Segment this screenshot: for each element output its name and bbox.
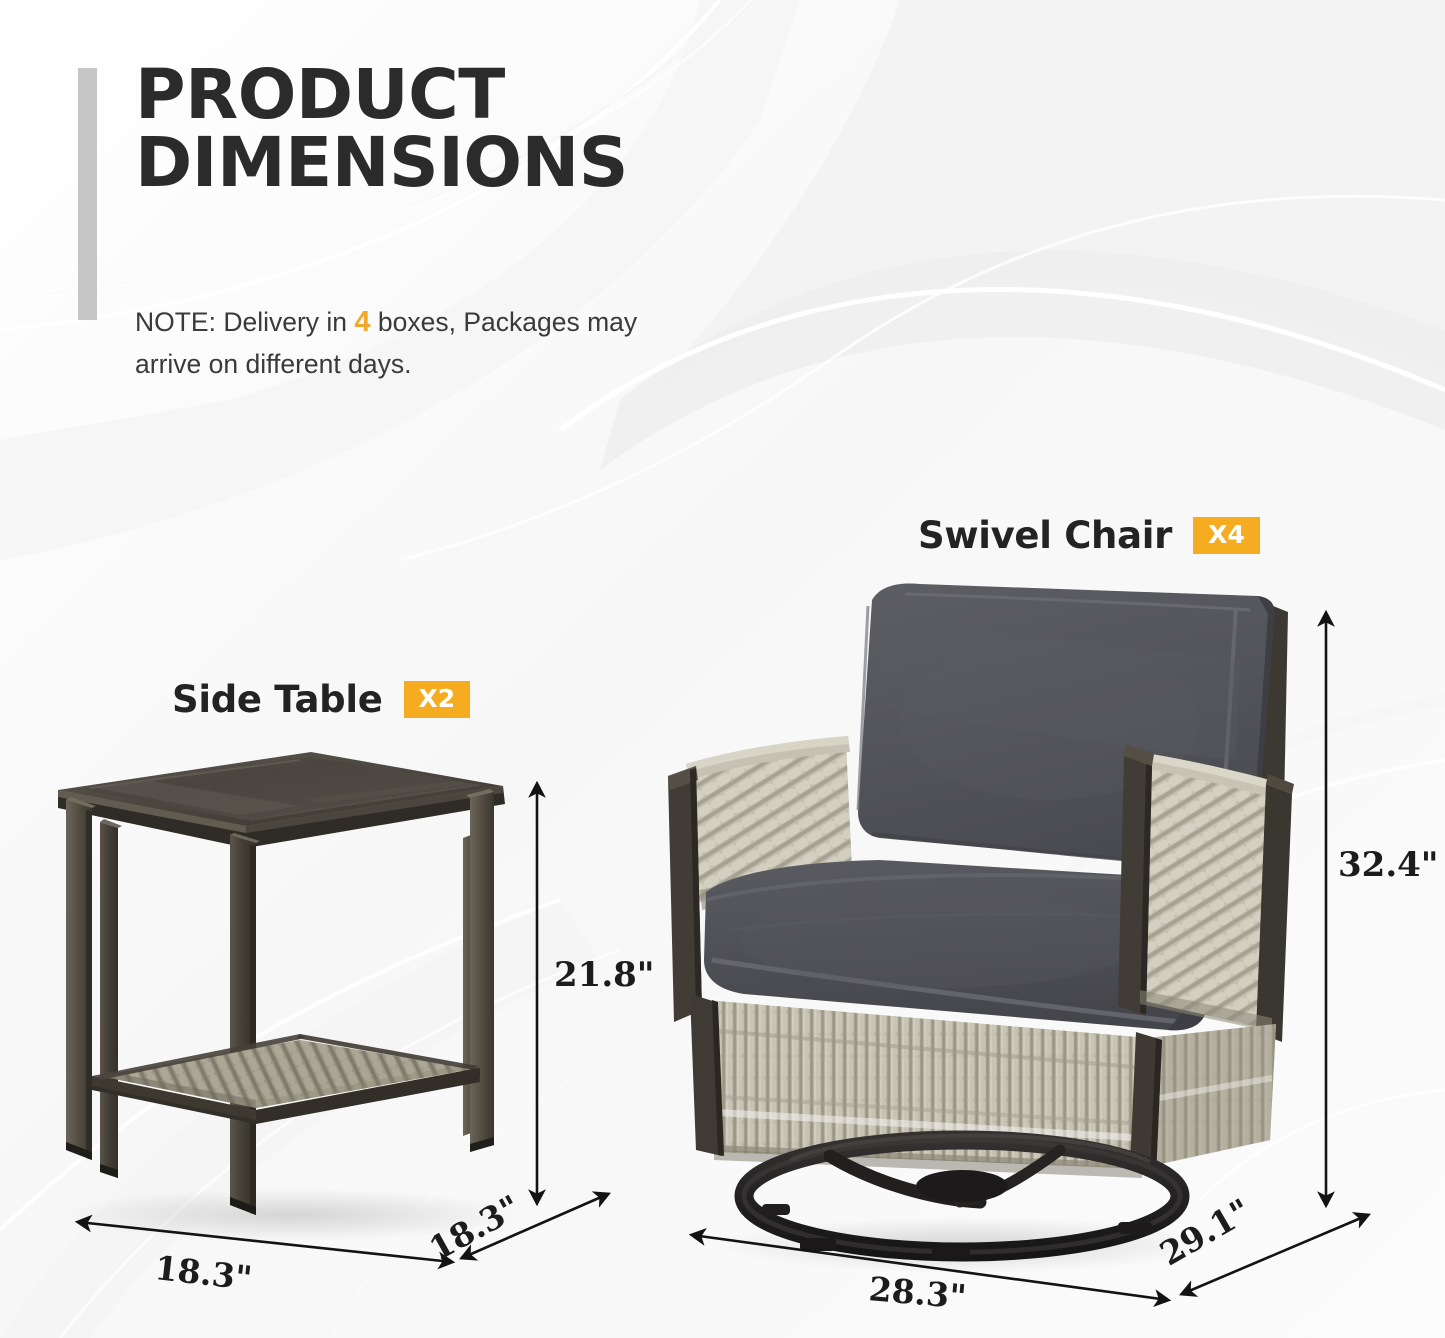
- dimension-label-chair-width: 28.3": [867, 1269, 968, 1316]
- note-prefix: NOTE: Delivery in: [135, 307, 354, 337]
- side-table-quantity-badge: X2: [404, 681, 471, 718]
- swivel-chair-name: Swivel Chair: [918, 514, 1172, 557]
- title-line-2: DIMENSIONS: [135, 130, 775, 198]
- note-box-count: 4: [354, 306, 370, 338]
- accent-bar: [78, 68, 97, 320]
- dimension-label-chair-height: 32.4": [1338, 845, 1439, 885]
- side-table-name: Side Table: [172, 678, 383, 721]
- page-title: PRODUCT DIMENSIONS: [135, 62, 775, 197]
- title-line-1: PRODUCT: [135, 62, 775, 130]
- delivery-note: NOTE: Delivery in 4 boxes, Packages may …: [135, 300, 695, 384]
- dimension-label-table-height: 21.8": [554, 955, 655, 995]
- product-label-side-table: Side Table X2: [172, 678, 470, 721]
- product-label-swivel-chair: Swivel Chair X4: [918, 514, 1260, 557]
- arrow-table-width: [78, 1222, 452, 1262]
- swivel-chair-quantity-badge: X4: [1193, 517, 1260, 554]
